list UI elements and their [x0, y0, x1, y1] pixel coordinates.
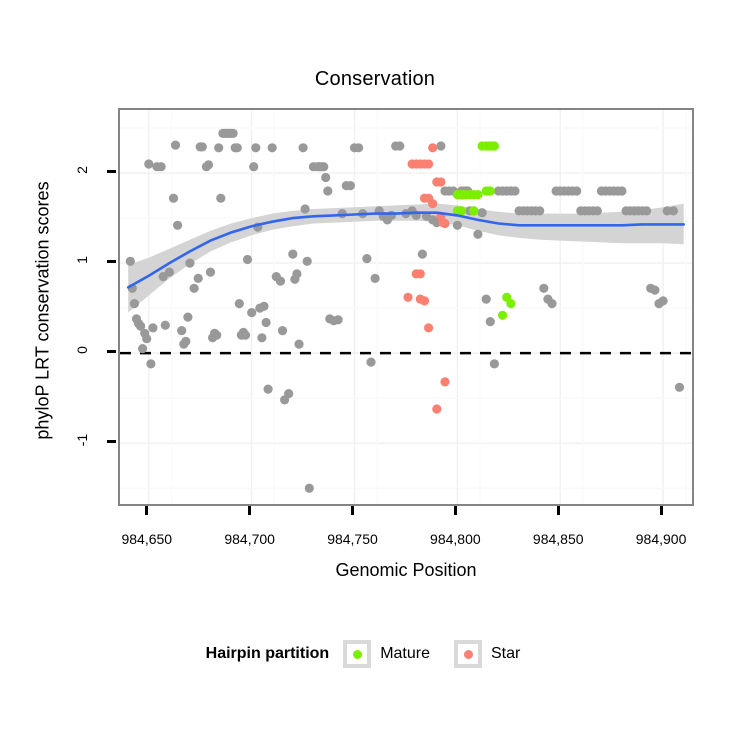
data-point [278, 326, 287, 335]
data-point [506, 299, 515, 308]
data-point [669, 206, 678, 215]
data-point [539, 284, 548, 293]
data-point [183, 313, 192, 322]
data-point [642, 206, 651, 215]
data-point [436, 177, 445, 186]
x-tick-mark [145, 506, 148, 515]
data-point [535, 206, 544, 215]
data-point [473, 230, 482, 239]
data-point [251, 143, 260, 152]
data-point [177, 326, 186, 335]
data-point [204, 160, 213, 169]
data-point [243, 255, 252, 264]
data-point [428, 143, 437, 152]
data-point [212, 331, 221, 340]
chart-title: Conservation [0, 68, 750, 91]
data-point [469, 206, 478, 215]
data-point [486, 186, 495, 195]
data-point [249, 162, 258, 171]
data-point [233, 143, 242, 152]
data-point [165, 268, 174, 277]
data-point [262, 318, 271, 327]
x-tick-label: 984,900 [606, 531, 716, 547]
y-axis-title: phyloP LRT conservation scores [33, 101, 54, 521]
data-point [482, 295, 491, 304]
y-tick-mark [107, 170, 116, 173]
data-point [498, 311, 507, 320]
data-point [216, 194, 225, 203]
data-point [148, 323, 157, 332]
y-tick-label: -1 [74, 420, 90, 460]
data-point [650, 286, 659, 295]
data-point [130, 299, 139, 308]
data-point [334, 315, 343, 324]
data-point [169, 194, 178, 203]
data-point [387, 211, 396, 220]
data-point [276, 277, 285, 286]
data-point [144, 159, 153, 168]
data-point [301, 204, 310, 213]
legend: Hairpin partition MatureStar [0, 640, 750, 668]
data-point [675, 383, 684, 392]
x-tick-label: 984,750 [298, 531, 408, 547]
y-tick-mark [107, 260, 116, 263]
data-point [268, 143, 277, 152]
plot-canvas [120, 110, 694, 506]
data-point [299, 143, 308, 152]
data-point [473, 190, 482, 199]
data-point [288, 250, 297, 259]
legend-title: Hairpin partition [206, 645, 330, 663]
x-tick-label: 984,650 [92, 531, 202, 547]
data-point [157, 162, 166, 171]
y-tick-mark [107, 350, 116, 353]
data-point [440, 219, 449, 228]
data-point [264, 385, 273, 394]
data-point [424, 159, 433, 168]
legend-entry-mature[interactable]: Mature [343, 640, 448, 668]
data-point [257, 333, 266, 342]
data-point [366, 358, 375, 367]
data-point [510, 186, 519, 195]
data-point [161, 321, 170, 330]
y-tick-mark [107, 440, 116, 443]
x-tick-label: 984,700 [195, 531, 305, 547]
legend-label: Mature [380, 645, 430, 663]
data-point [593, 206, 602, 215]
data-point [190, 284, 199, 293]
data-point [126, 257, 135, 266]
legend-dot-icon [464, 650, 473, 659]
y-tick-label: 0 [74, 330, 90, 370]
data-point [436, 141, 445, 150]
data-point [173, 221, 182, 230]
data-point [171, 141, 180, 150]
data-point [214, 143, 223, 152]
data-point [241, 331, 250, 340]
data-point [235, 299, 244, 308]
data-point [142, 334, 151, 343]
data-point [206, 268, 215, 277]
scatter-points-star [403, 143, 449, 413]
data-point [362, 254, 371, 263]
x-tick-mark [660, 506, 663, 515]
data-point [617, 186, 626, 195]
legend-dot-icon [353, 650, 362, 659]
data-point [453, 221, 462, 230]
data-point [420, 296, 429, 305]
data-point [259, 302, 268, 311]
data-point [185, 259, 194, 268]
data-point [547, 299, 556, 308]
data-point [198, 142, 207, 151]
data-point [416, 269, 425, 278]
scatter-points-other [126, 129, 684, 493]
legend-key-swatch [343, 640, 371, 668]
data-point [457, 206, 466, 215]
plot-panel [118, 108, 694, 506]
data-point [490, 359, 499, 368]
data-point [346, 181, 355, 190]
data-point [284, 389, 293, 398]
x-tick-mark [248, 506, 251, 515]
y-tick-label: 1 [74, 240, 90, 280]
data-point [247, 308, 256, 317]
data-point [478, 208, 487, 217]
x-tick-mark [351, 506, 354, 515]
data-point [292, 269, 301, 278]
data-point [229, 129, 238, 138]
x-tick-label: 984,850 [503, 531, 613, 547]
data-point [490, 141, 499, 150]
data-point [294, 340, 303, 349]
legend-entry-star[interactable]: Star [454, 640, 538, 668]
x-tick-label: 984,800 [400, 531, 510, 547]
data-point [428, 199, 437, 208]
x-tick-mark [454, 506, 457, 515]
data-point [424, 323, 433, 332]
data-point [194, 274, 203, 283]
data-point [303, 257, 312, 266]
data-point [181, 337, 190, 346]
data-point [371, 274, 380, 283]
data-point [395, 141, 404, 150]
data-point [432, 404, 441, 413]
legend-label: Star [491, 645, 520, 663]
data-point [403, 293, 412, 302]
data-point [138, 344, 147, 353]
data-point [321, 173, 330, 182]
data-point [146, 359, 155, 368]
data-point [319, 162, 328, 171]
conservation-chart-figure: Conservation phyloP LRT conservation sco… [0, 0, 750, 750]
data-point [418, 250, 427, 259]
x-tick-mark [557, 506, 560, 515]
data-point [659, 296, 668, 305]
y-tick-label: 2 [74, 150, 90, 190]
legend-entries: MatureStar [343, 640, 544, 668]
x-axis-title: Genomic Position [118, 560, 694, 581]
data-point [572, 186, 581, 195]
data-point [323, 186, 332, 195]
data-point [354, 143, 363, 152]
data-point [305, 484, 314, 493]
data-point [440, 377, 449, 386]
legend-key-swatch [454, 640, 482, 668]
data-point [486, 317, 495, 326]
